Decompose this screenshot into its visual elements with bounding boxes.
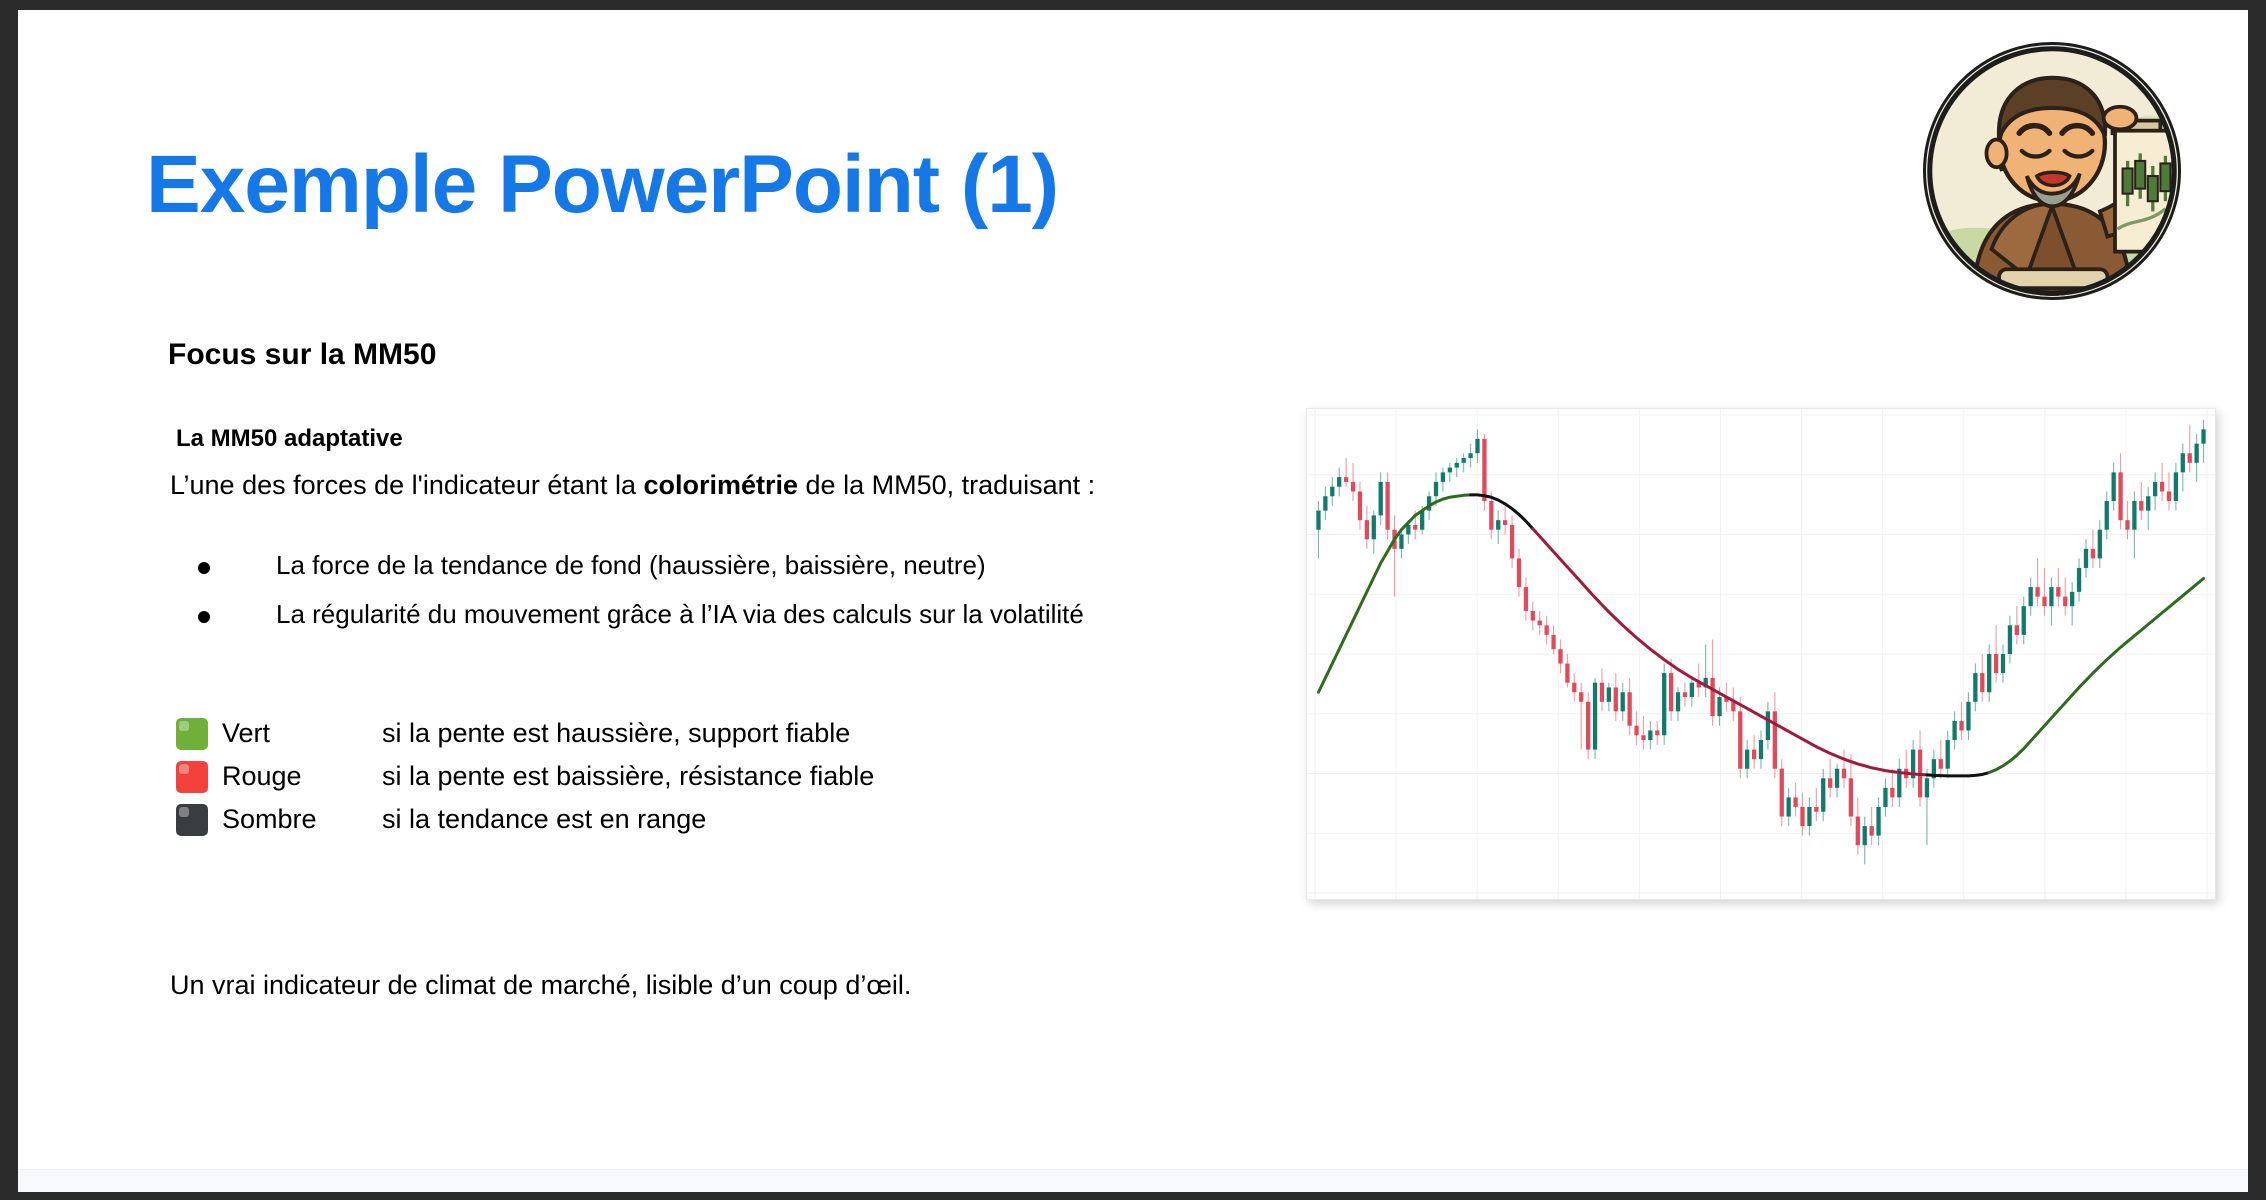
bullet-list: La force de la tendance de fond (haussiè… — [198, 550, 1084, 648]
legend-description: si la tendance est en range — [382, 804, 706, 835]
legend-description: si la pente est haussière, support fiabl… — [382, 718, 850, 749]
legend-row-sombre: Sombre si la tendance est en range — [176, 798, 874, 841]
color-swatch-vert — [176, 718, 208, 750]
legend-name: Vert — [222, 718, 382, 749]
presentation-frame: Exemple PowerPoint (1) — [0, 0, 2266, 1200]
lead-paragraph-emphasis: colorimétrie — [643, 470, 798, 500]
legend-description: si la pente est baissière, résistance fi… — [382, 761, 874, 792]
candlestick-chart — [1306, 408, 2216, 900]
legend-row-rouge: Rouge si la pente est baissière, résista… — [176, 755, 874, 798]
closing-statement: Un vrai indicateur de climat de marché, … — [170, 970, 911, 1001]
list-item: La régularité du mouvement grâce à l’IA … — [198, 599, 1084, 630]
color-swatch-sombre — [176, 804, 208, 836]
legend-name: Sombre — [222, 804, 382, 835]
list-item: La force de la tendance de fond (haussiè… — [198, 550, 1084, 581]
section-subheading: Focus sur la MM50 — [168, 338, 436, 372]
lead-bold-label: La MM50 adaptative — [176, 425, 403, 453]
legend-row-vert: Vert si la pente est haussière, support … — [176, 712, 874, 755]
slide-canvas: Exemple PowerPoint (1) — [18, 10, 2248, 1192]
lead-paragraph: L’une des forces de l'indicateur étant l… — [170, 470, 1095, 501]
legend-name: Rouge — [222, 761, 382, 792]
color-swatch-rouge — [176, 761, 208, 793]
lead-paragraph-after: de la MM50, traduisant : — [798, 470, 1095, 500]
slide-bottom-strip — [18, 1169, 2248, 1192]
color-legend: Vert si la pente est haussière, support … — [176, 712, 874, 841]
lead-paragraph-before: L’une des forces de l'indicateur étant l… — [170, 470, 643, 500]
page-title: Exemple PowerPoint (1) — [146, 138, 1058, 232]
sensei-trader-avatar — [1923, 42, 2181, 300]
